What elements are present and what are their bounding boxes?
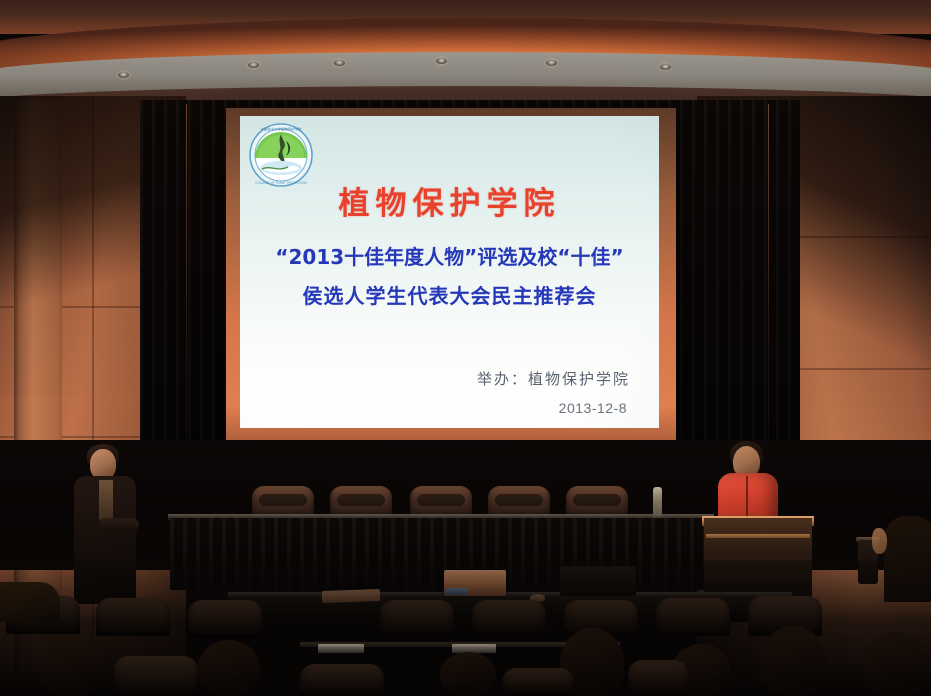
ceiling-spotlight-icon <box>546 60 557 66</box>
jacket-zipper <box>746 476 748 520</box>
desk-paper <box>318 644 364 653</box>
audience-seat <box>502 668 574 696</box>
audience-seat <box>96 598 170 636</box>
left-speaker-shirt <box>99 480 113 520</box>
ceiling-spotlight-icon <box>118 72 129 78</box>
audience-head <box>198 640 260 696</box>
right-foreground-person <box>884 516 931 602</box>
audience-head <box>42 638 102 696</box>
audience-seat <box>628 660 688 696</box>
audience-seat <box>188 600 262 638</box>
audience-seat <box>656 598 730 636</box>
ceiling-spotlight-icon <box>436 58 447 64</box>
auditorium-photo: 中国农业大学植物保护学院 COLLEGE OF PLANT PROTECTION… <box>0 0 931 696</box>
slide-title: 植物保护学院 <box>240 178 659 223</box>
podium-trim-band <box>706 534 810 538</box>
left-foreground-person <box>0 582 60 622</box>
ceiling-spotlight-icon <box>334 60 345 66</box>
audience-seat <box>114 656 198 696</box>
audience-head <box>864 632 928 696</box>
audience-seat <box>380 600 454 636</box>
slide-subtitle-line2: 侯选人学生代表大会民主推荐会 <box>240 280 659 309</box>
slide-date: 2013-12-8 <box>559 400 627 416</box>
right-foreground-person-face <box>872 528 887 554</box>
audience-head <box>440 652 496 696</box>
audience-head <box>760 626 826 696</box>
slide-host-label: 举办：植物保护学院 <box>477 368 630 389</box>
slide-subtitle-line1: “2013十佳年度人物”评选及校“十佳” <box>240 241 659 270</box>
projection-screen: 中国农业大学植物保护学院 COLLEGE OF PLANT PROTECTION… <box>240 116 659 428</box>
ceiling-spotlight-icon <box>660 64 671 70</box>
audience-seat <box>300 664 384 696</box>
ceiling-spotlight-icon <box>248 62 259 68</box>
audience-seat <box>472 600 546 636</box>
svg-text:中国农业大学植物保护学院: 中国农业大学植物保护学院 <box>261 127 302 132</box>
left-speaker-crossed-arms <box>99 518 139 532</box>
